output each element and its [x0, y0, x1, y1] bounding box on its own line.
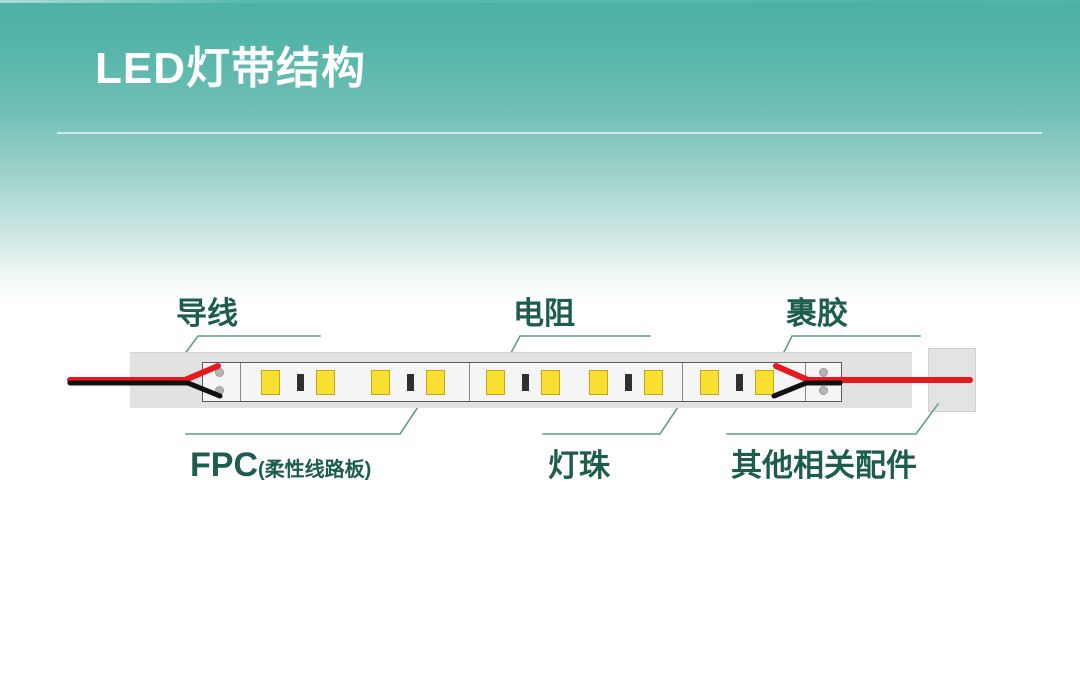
callout-label-accessories: 其他相关配件: [731, 450, 917, 481]
wire-right-negative: [774, 383, 840, 396]
wire-left-positive: [70, 366, 218, 380]
callout-label-encapsulant: 裹胶: [786, 298, 848, 329]
callout-label-fpc-main: FPC: [190, 446, 258, 484]
wire-layer: [70, 342, 1010, 422]
callout-label-fpc-sub: (柔性线路板): [258, 459, 371, 481]
wire-left-negative: [70, 383, 220, 396]
callout-label-resistor: 电阻: [513, 298, 575, 329]
title-divider: [57, 132, 1042, 134]
callout-label-wire: 导线: [176, 298, 238, 329]
header-top-edge: [0, 0, 1080, 3]
led-strip-diagram: [130, 352, 940, 414]
callout-label-led-bead: 灯珠: [548, 450, 610, 481]
callout-label-fpc: FPC(柔性线路板): [190, 448, 371, 482]
slide-canvas: LED灯带结构 导线 电阻 裹胶 FPC(柔性线路板) 灯珠 其他相关配件: [0, 0, 1080, 679]
page-title: LED灯带结构: [95, 44, 366, 95]
wire-right-positive: [776, 366, 970, 380]
